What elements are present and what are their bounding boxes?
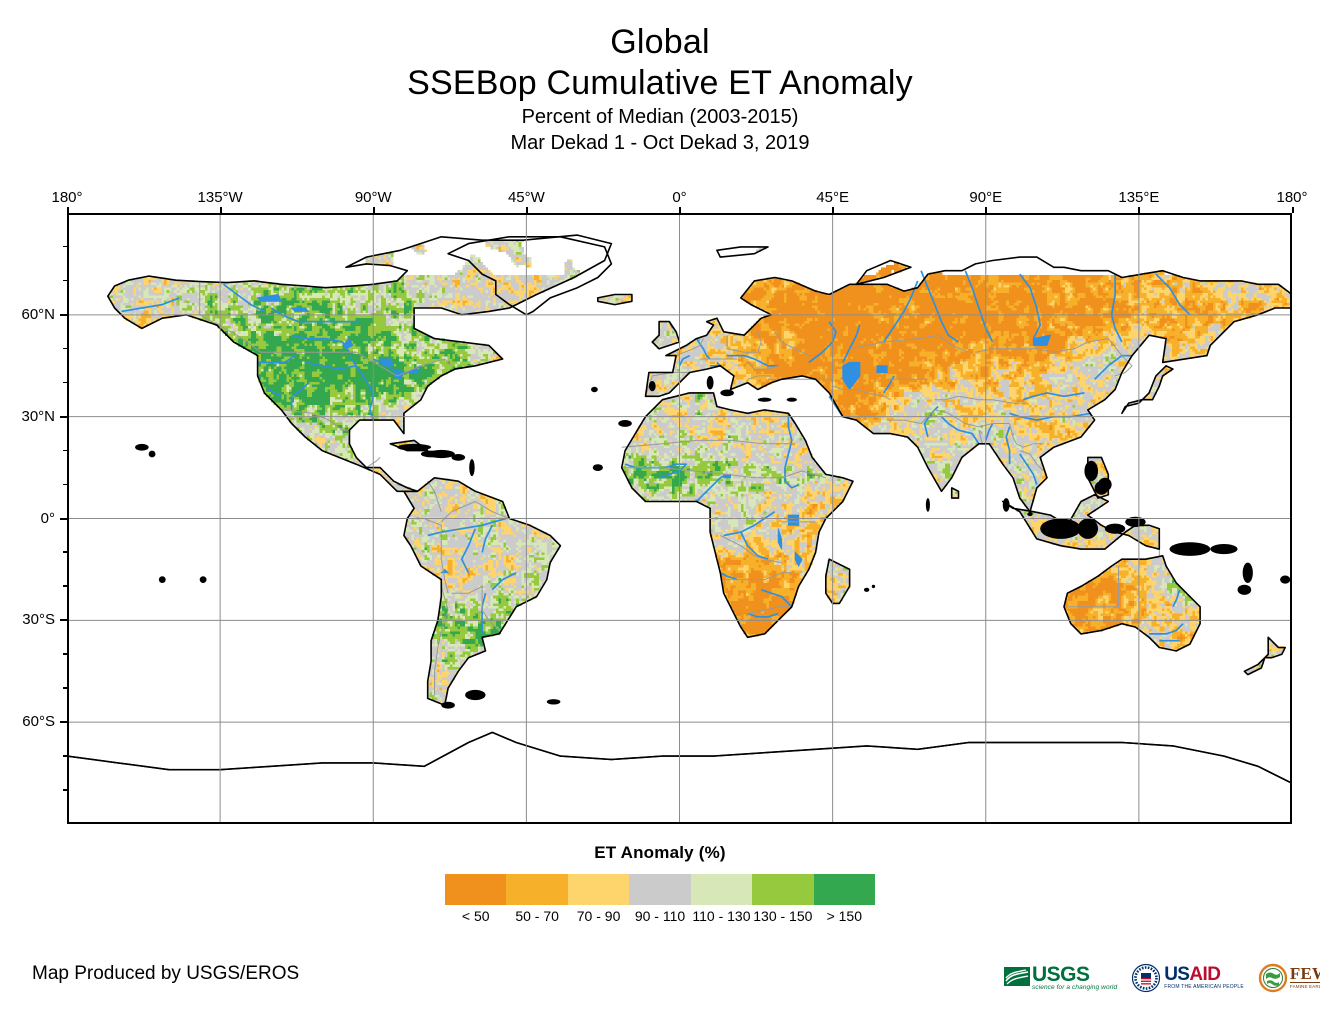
usaid-word-aid: AID xyxy=(1189,964,1220,985)
island-25 xyxy=(547,699,561,704)
island-27 xyxy=(1084,461,1098,481)
island-22 xyxy=(864,588,869,592)
legend-label-5: 130 - 150 xyxy=(753,908,812,924)
lon-tick-label-2: 90°W xyxy=(355,190,392,206)
island-35 xyxy=(441,702,455,709)
legend-color-bar xyxy=(445,874,875,905)
lat-tick-1 xyxy=(60,416,67,418)
island-19 xyxy=(591,387,598,392)
map-canvas[interactable] xyxy=(67,213,1292,824)
island-1 xyxy=(452,454,466,461)
island-28 xyxy=(1095,481,1109,495)
usaid-logo: USAID FROM THE AMERICAN PEOPLE xyxy=(1131,963,1244,993)
legend-swatch-5 xyxy=(752,874,813,905)
legend-label-0: < 50 xyxy=(462,908,490,924)
lat-tick-label-3: 30°S xyxy=(0,612,55,628)
page-title-line2: SSEBop Cumulative ET Anomaly xyxy=(0,62,1320,104)
legend-label-1: 50 - 70 xyxy=(515,908,559,924)
lat-tick-label-0: 60°N xyxy=(0,307,55,323)
island-33 xyxy=(159,576,166,583)
legend-labels: < 5050 - 7070 - 9090 - 110110 - 130130 -… xyxy=(425,908,895,928)
page-subtitle-1: Percent of Median (2003-2015) xyxy=(0,104,1320,130)
usgs-wordmark: USGS xyxy=(1032,965,1117,984)
fews-tagline: FAMINE EARLY WARNING SYSTEMS NETWORK xyxy=(1290,983,1320,990)
legend-label-2: 70 - 90 xyxy=(577,908,621,924)
lon-tick-label-3: 45°W xyxy=(508,190,545,206)
lake-8 xyxy=(788,515,798,525)
usaid-seal-icon xyxy=(1131,963,1161,993)
usgs-tagline: science for a changing world xyxy=(1032,984,1117,992)
world-map[interactable] xyxy=(67,213,1292,824)
island-17 xyxy=(758,398,772,402)
island-14 xyxy=(649,381,656,391)
lon-tick-label-8: 180° xyxy=(1276,190,1307,206)
island-4 xyxy=(421,451,441,458)
legend-label-6: > 150 xyxy=(827,908,862,924)
title-block: Global SSEBop Cumulative ET Anomaly Perc… xyxy=(0,22,1320,156)
lat-tick-3 xyxy=(60,619,67,621)
legend-label-3: 90 - 110 xyxy=(635,908,685,924)
island-21 xyxy=(593,464,603,471)
lon-tick-label-4: 0° xyxy=(672,190,686,206)
island-15 xyxy=(720,390,734,397)
lat-tick-label-4: 60°S xyxy=(0,714,55,730)
island-20 xyxy=(618,420,632,427)
usaid-tagline: FROM THE AMERICAN PEOPLE xyxy=(1164,984,1244,991)
credit-text: Map Produced by USGS/EROS xyxy=(32,963,299,985)
legend-label-4: 110 - 130 xyxy=(692,908,750,924)
legend-swatch-3 xyxy=(629,874,690,905)
island-36 xyxy=(1238,585,1252,595)
island-23 xyxy=(872,585,875,588)
island-32 xyxy=(1040,519,1081,539)
lat-tick-label-1: 30°N xyxy=(0,409,55,425)
logo-row: USGS science for a changing world USAID … xyxy=(1004,956,1304,1000)
usgs-wave-icon xyxy=(1004,965,1030,991)
island-16 xyxy=(707,376,714,390)
lon-tick-label-1: 135°W xyxy=(198,190,243,206)
lat-tick-0 xyxy=(60,314,67,316)
island-12 xyxy=(1003,498,1010,512)
lon-tick-label-5: 45°E xyxy=(816,190,849,206)
legend-swatch-6 xyxy=(814,874,875,905)
fews-net-logo: FEWS NET FAMINE EARLY WARNING SYSTEMS NE… xyxy=(1258,963,1320,993)
island-2 xyxy=(469,459,474,476)
page-subtitle-2: Mar Dekad 1 - Oct Dekad 3, 2019 xyxy=(0,130,1320,156)
usgs-logo: USGS science for a changing world xyxy=(1004,965,1117,992)
island-13 xyxy=(1027,512,1032,516)
lat-tick-label-2: 0° xyxy=(0,511,55,527)
island-3 xyxy=(397,444,431,451)
page-title-line1: Global xyxy=(0,22,1320,62)
lat-tick-4 xyxy=(60,721,67,723)
usaid-wordmark: USAID xyxy=(1164,966,1244,984)
island-6 xyxy=(1210,544,1237,554)
lon-tick-label-0: 180° xyxy=(51,190,82,206)
island-9 xyxy=(135,444,149,451)
fews-wordmark: FEWS NET xyxy=(1290,966,1320,983)
island-18 xyxy=(787,398,797,402)
fews-globe-icon xyxy=(1258,963,1288,993)
legend-title: ET Anomaly (%) xyxy=(0,843,1320,863)
island-34 xyxy=(200,576,207,583)
legend: ET Anomaly (%) < 5050 - 7070 - 9090 - 11… xyxy=(0,843,1320,928)
legend-swatch-1 xyxy=(506,874,567,905)
usaid-word-us: US xyxy=(1164,964,1189,985)
legend-swatch-4 xyxy=(691,874,752,905)
lake-7 xyxy=(877,366,887,373)
map-page: Global SSEBop Cumulative ET Anomaly Perc… xyxy=(0,0,1320,1020)
lon-tick-label-7: 135°E xyxy=(1118,190,1159,206)
lon-tick-label-6: 90°E xyxy=(969,190,1002,206)
legend-swatch-2 xyxy=(568,874,629,905)
island-30 xyxy=(1105,524,1125,534)
lake-3 xyxy=(292,308,309,311)
island-11 xyxy=(926,498,930,512)
island-7 xyxy=(1243,563,1253,583)
legend-swatch-0 xyxy=(445,874,506,905)
island-10 xyxy=(149,451,156,458)
island-5 xyxy=(1170,542,1211,556)
lat-tick-2 xyxy=(60,518,67,520)
island-24 xyxy=(465,690,485,700)
island-8 xyxy=(1280,576,1290,584)
